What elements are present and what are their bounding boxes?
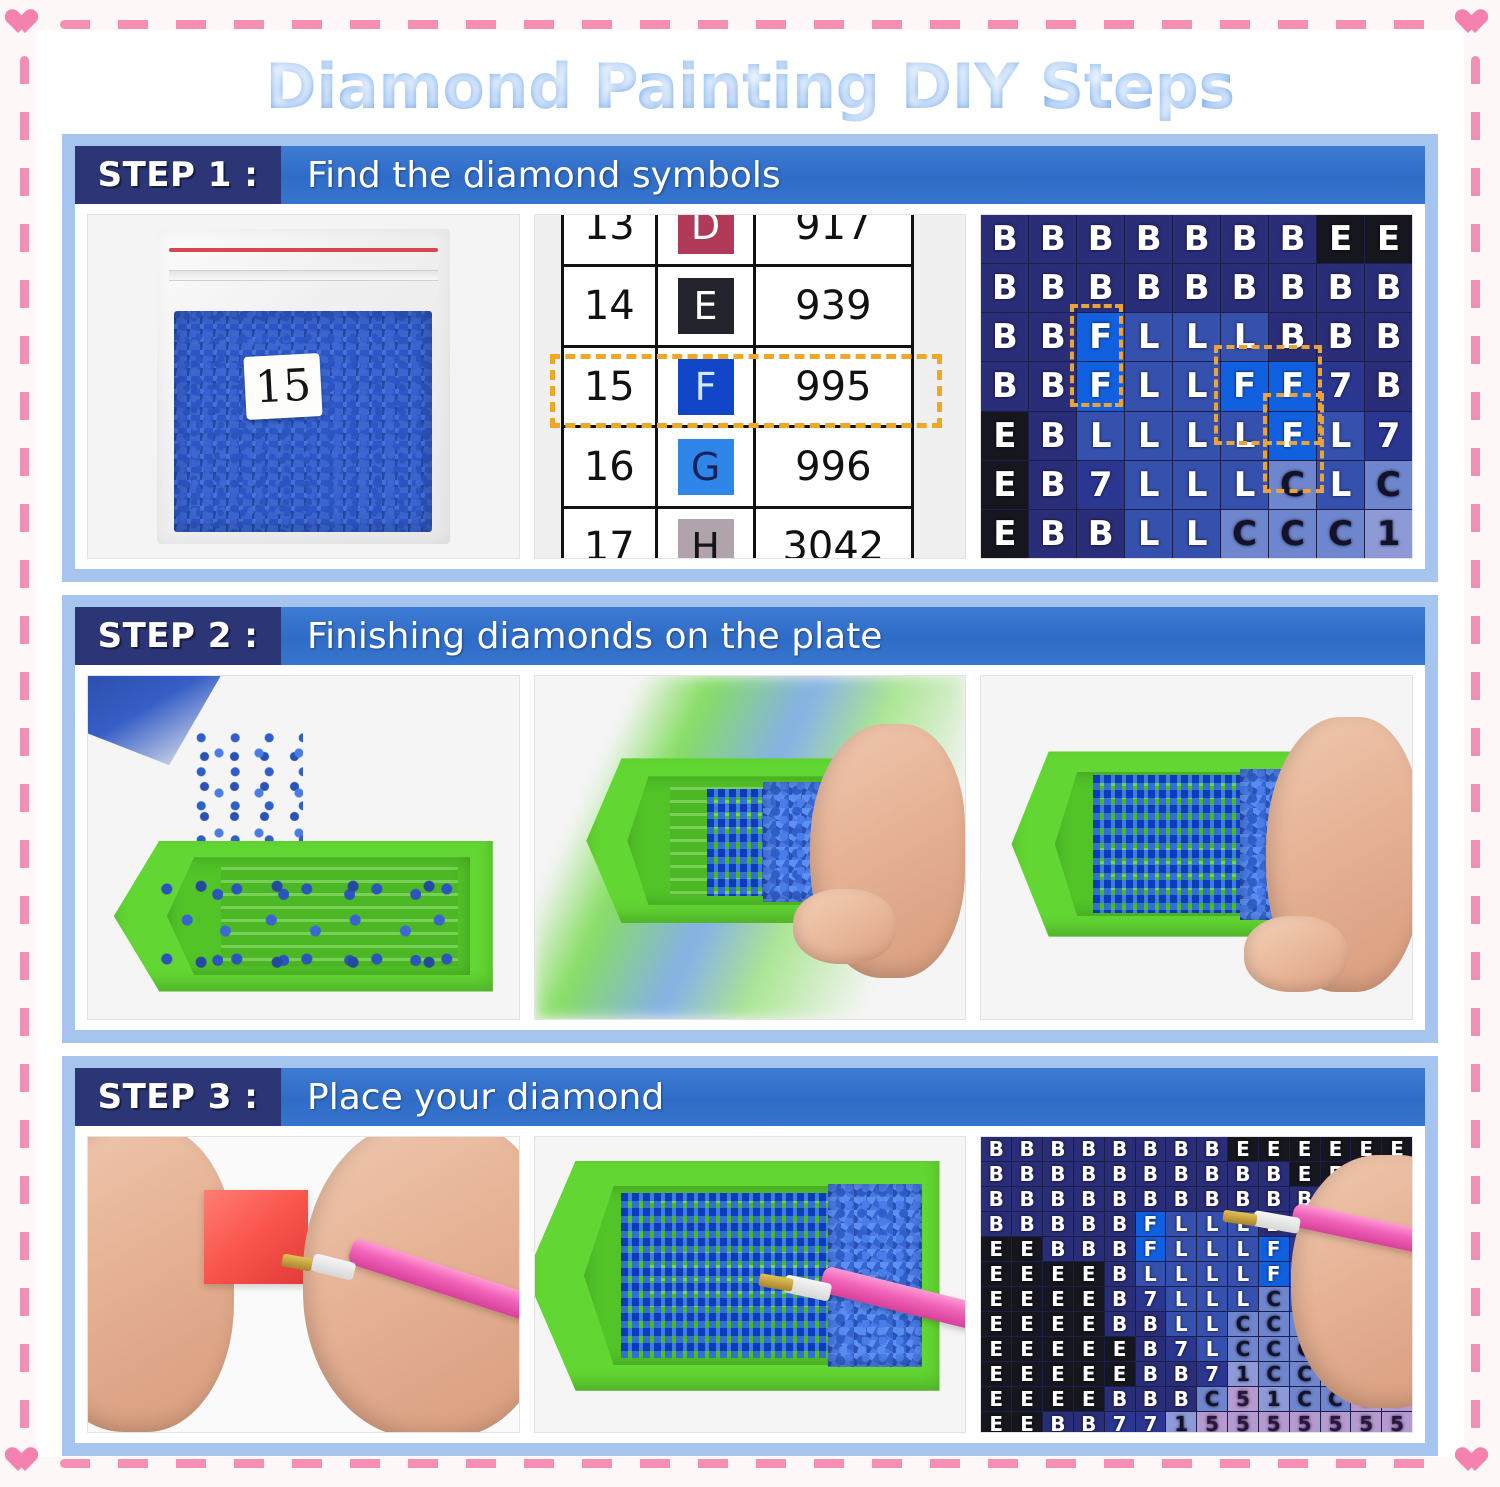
grid-cell: B <box>1043 1412 1073 1433</box>
grid-cell: B <box>1105 1187 1135 1211</box>
grid-cell: B <box>1317 264 1364 312</box>
grid-cell: F <box>1221 362 1268 410</box>
grid-cell: E <box>1321 1137 1351 1161</box>
symbol-chip: D <box>678 214 734 254</box>
step-2-header: STEP 2 : Finishing diamonds on the plate <box>75 607 1425 665</box>
grid-cell: C <box>1259 1287 1289 1311</box>
step-2-title: Finishing diamonds on the plate <box>281 607 1425 665</box>
grid-cell: B <box>1105 1212 1135 1236</box>
grid-cell: E <box>1074 1362 1104 1386</box>
grid-cell: L <box>1173 362 1220 410</box>
page-content: Diamond Painting DIY Steps STEP 1 : Find… <box>48 40 1452 1451</box>
wax-pen-photo <box>87 1136 520 1433</box>
grid-cell: 7 <box>1166 1337 1196 1361</box>
frame-dash-top <box>60 20 1438 29</box>
frame-dash-right <box>1471 56 1480 1431</box>
chart-row: 15F995 <box>562 346 912 426</box>
grid-cell: 7 <box>1317 362 1364 410</box>
frame-dash-left <box>20 56 29 1431</box>
grid-cell: B <box>1105 1312 1135 1336</box>
step-1-header: STEP 1 : Find the diamond symbols <box>75 146 1425 204</box>
grid-cell: L <box>1317 461 1364 509</box>
grid-cell: C <box>1228 1312 1258 1336</box>
grid-cell: E <box>981 1387 1011 1411</box>
grid-cell: B <box>1166 1362 1196 1386</box>
grid-cell: B <box>1105 1162 1135 1186</box>
symbol-chart-table: 13D91714E93915F99516G99617H3042 <box>561 214 914 559</box>
grid-cell: B <box>1259 1187 1289 1211</box>
grid-cell: B <box>1077 510 1124 558</box>
grid-cell: B <box>1043 1212 1073 1236</box>
grid-cell: B <box>1029 264 1076 312</box>
grid-cell: B <box>1043 1162 1073 1186</box>
grid-cell: 7 <box>1136 1412 1166 1433</box>
grid-cell: B <box>1105 1387 1135 1411</box>
grid-cell: B <box>1173 264 1220 312</box>
grid-cell: L <box>1173 461 1220 509</box>
grid-cell: E <box>1290 1162 1320 1186</box>
grid-cell: F <box>1269 362 1316 410</box>
grid-cell: B <box>981 1212 1011 1236</box>
grid-cell: B <box>1136 1387 1166 1411</box>
grid-cell: E <box>1043 1312 1073 1336</box>
grid-cell: E <box>1043 1262 1073 1286</box>
grid-cell: E <box>1074 1387 1104 1411</box>
grid-cell: E <box>1105 1362 1135 1386</box>
grid-cell: L <box>1125 362 1172 410</box>
grid-cell: B <box>1012 1162 1042 1186</box>
grid-cell: 7 <box>1105 1412 1135 1433</box>
grid-cell: B <box>1077 264 1124 312</box>
grid-cell: B <box>1136 1362 1166 1386</box>
grid-cell: E <box>1012 1412 1042 1433</box>
grid-cell: E <box>1012 1312 1042 1336</box>
grid-cell: F <box>1077 313 1124 361</box>
grid-cell: C <box>1221 510 1268 558</box>
grid-cell: B <box>1173 215 1220 263</box>
symbol-chip: E <box>678 278 734 334</box>
grid-cell: B <box>981 1162 1011 1186</box>
grid-cell: L <box>1136 1262 1166 1286</box>
grid-cell: C <box>1259 1362 1289 1386</box>
grid-cell: B <box>1074 1162 1104 1186</box>
grid-cell: B <box>1136 1312 1166 1336</box>
grid-cell: E <box>981 510 1028 558</box>
aligned-diamonds-photo <box>980 675 1413 1020</box>
grid-cell: B <box>1166 1387 1196 1411</box>
step-3-title: Place your diamond <box>281 1068 1425 1126</box>
page-title: Diamond Painting DIY Steps <box>265 50 1235 123</box>
grid-cell: 7 <box>1197 1362 1227 1386</box>
heart-icon <box>1460 1448 1490 1475</box>
grid-cell: B <box>1136 1162 1166 1186</box>
bag-zip-seal <box>169 248 438 252</box>
chart-row-dmc: 996 <box>755 427 913 507</box>
chart-row: 14E939 <box>562 266 912 346</box>
grid-cell: 7 <box>1365 412 1412 460</box>
grid-cell: B <box>1105 1262 1135 1286</box>
grid-cell: E <box>1074 1337 1104 1361</box>
grid-cell: E <box>1012 1387 1042 1411</box>
grid-cell: E <box>1012 1362 1042 1386</box>
grid-cell: C <box>1259 1337 1289 1361</box>
chart-row-index: 15 <box>562 346 657 426</box>
chart-row-dmc: 917 <box>755 214 913 266</box>
grid-cell: B <box>1012 1212 1042 1236</box>
grid-cell: E <box>981 461 1028 509</box>
grid-cell: L <box>1125 313 1172 361</box>
grid-cell: B <box>981 313 1028 361</box>
grid-cell: B <box>1317 313 1364 361</box>
chart-row-symbol: H <box>657 507 755 559</box>
aligned-diamond-rows <box>621 1193 845 1358</box>
grid-cell: 5 <box>1351 1412 1381 1433</box>
step-2-badge: STEP 2 : <box>75 607 281 665</box>
grid-cell: F <box>1259 1262 1289 1286</box>
grid-cell: B <box>1197 1137 1227 1161</box>
grid-cell: F <box>1259 1237 1289 1261</box>
grid-cell: E <box>981 1237 1011 1261</box>
diamond-bag-photo: 15 <box>87 214 520 559</box>
grid-cell: B <box>1029 461 1076 509</box>
chart-row-symbol: F <box>657 346 755 426</box>
grid-cell: B <box>1197 1187 1227 1211</box>
chart-row-index: 17 <box>562 507 657 559</box>
grid-cell: L <box>1197 1237 1227 1261</box>
scattered-diamonds <box>157 868 467 971</box>
chart-row-symbol: D <box>657 214 755 266</box>
zip-bag: 15 <box>157 229 450 545</box>
grid-cell: L <box>1166 1237 1196 1261</box>
grid-cell: E <box>981 1262 1011 1286</box>
grid-cell: B <box>1228 1162 1258 1186</box>
grid-cell: B <box>1029 313 1076 361</box>
grid-cell: E <box>981 1362 1011 1386</box>
chart-row-index: 14 <box>562 266 657 346</box>
grid-cell: B <box>1221 215 1268 263</box>
frame-dash-bottom <box>60 1459 1438 1468</box>
grid-cell: B <box>981 1137 1011 1161</box>
grid-cell: B <box>1136 1187 1166 1211</box>
grid-cell: L <box>1173 313 1220 361</box>
grid-cell: L <box>1077 412 1124 460</box>
grid-cell: E <box>1012 1337 1042 1361</box>
grid-cell: B <box>1029 510 1076 558</box>
pour-diamonds-photo <box>87 675 520 1020</box>
grid-cell: B <box>1166 1162 1196 1186</box>
step-panel-1: STEP 1 : Find the diamond symbols 15 13D… <box>62 134 1438 582</box>
grid-cell: E <box>1074 1287 1104 1311</box>
grid-cell: E <box>1074 1262 1104 1286</box>
chart-row: 16G996 <box>562 427 912 507</box>
grid-cell: E <box>1317 215 1364 263</box>
grid-cell: C <box>1228 1337 1258 1361</box>
grid-cell: F <box>1077 362 1124 410</box>
grid-cell: B <box>1074 1212 1104 1236</box>
grid-cell: L <box>1173 412 1220 460</box>
grid-cell: E <box>1365 215 1412 263</box>
step-3-header: STEP 3 : Place your diamond <box>75 1068 1425 1126</box>
grid-cell: F <box>1136 1212 1166 1236</box>
grid-cell: E <box>1012 1237 1042 1261</box>
grid-cell: 5 <box>1197 1412 1227 1433</box>
grid-cell: 1 <box>1365 510 1412 558</box>
step-1-photos: 15 13D91714E93915F99516G99617H3042 BBBBB… <box>75 204 1425 569</box>
grid-cell: E <box>1043 1337 1073 1361</box>
grid-cell: E <box>981 1337 1011 1361</box>
grid-cell: B <box>1074 1237 1104 1261</box>
chart-row-index: 13 <box>562 214 657 266</box>
grid-cell: E <box>981 1287 1011 1311</box>
bag-number-label: 15 <box>243 353 322 420</box>
chart-row-index: 16 <box>562 427 657 507</box>
grid-cell: 1 <box>1228 1362 1258 1386</box>
grid-cell: E <box>981 412 1028 460</box>
grid-cell: 1 <box>1259 1387 1289 1411</box>
grid-cell: E <box>981 1312 1011 1336</box>
grid-cell: L <box>1197 1262 1227 1286</box>
chart-row-dmc: 995 <box>755 346 913 426</box>
grid-cell: L <box>1221 313 1268 361</box>
grid-cell: 5 <box>1228 1387 1258 1411</box>
grid-cell: L <box>1228 1262 1258 1286</box>
step-1-badge: STEP 1 : <box>75 146 281 204</box>
grid-cell: B <box>1166 1187 1196 1211</box>
grid-cell: B <box>1269 313 1316 361</box>
step-3-photos: BBBBBBBBEEEEEEBBBBBBBBBBEEBEBBBBBBBBBBBB… <box>75 1126 1425 1443</box>
grid-cell: B <box>1074 1412 1104 1433</box>
grid-cell: B <box>1029 412 1076 460</box>
grid-cell: C <box>1317 510 1364 558</box>
grid-cell: B <box>1029 362 1076 410</box>
grid-cell: 5 <box>1321 1412 1351 1433</box>
finger <box>793 889 896 964</box>
shake-tray-photo <box>534 675 967 1020</box>
grid-cell: B <box>1125 264 1172 312</box>
grid-cell: L <box>1166 1212 1196 1236</box>
grid-cell: B <box>1012 1137 1042 1161</box>
grid-cell: 5 <box>1382 1412 1412 1433</box>
grid-cell: L <box>1228 1237 1258 1261</box>
grid-cell: F <box>1269 412 1316 460</box>
grid-cell: C <box>1259 1312 1289 1336</box>
grid-cell: L <box>1166 1287 1196 1311</box>
symbol-grid-small: BBBBBBBEEBBBBBBBBBBBFLLLBBBBBFLLFF7BEBLL… <box>981 215 1412 558</box>
grid-cell: C <box>1365 461 1412 509</box>
chart-row-dmc: 3042 <box>755 507 913 559</box>
step-panel-3: STEP 3 : Place your diamond <box>62 1056 1438 1456</box>
grid-cell: E <box>1259 1137 1289 1161</box>
grid-cell: B <box>1105 1287 1135 1311</box>
grid-cell: B <box>1074 1137 1104 1161</box>
grid-cell: 5 <box>1228 1412 1258 1433</box>
grid-cell: L <box>1221 412 1268 460</box>
grid-cell: B <box>1228 1187 1258 1211</box>
grid-cell: L <box>1125 461 1172 509</box>
grid-cell: B <box>981 1187 1011 1211</box>
grid-cell: L <box>1166 1312 1196 1336</box>
step-1-title: Find the diamond symbols <box>281 146 1425 204</box>
heart-icon <box>10 10 40 37</box>
page-title-bar: Diamond Painting DIY Steps <box>48 40 1452 132</box>
finger <box>1244 916 1347 991</box>
chart-row: 17H3042 <box>562 507 912 559</box>
grid-cell: B <box>1365 264 1412 312</box>
chart-row-dmc: 939 <box>755 266 913 346</box>
grid-cell: E <box>981 1412 1011 1433</box>
grid-cell: E <box>1043 1287 1073 1311</box>
grid-cell: E <box>1012 1287 1042 1311</box>
grid-cell: E <box>1012 1262 1042 1286</box>
aligned-diamond-rows <box>1093 775 1257 912</box>
grid-cell: C <box>1269 510 1316 558</box>
grid-cell: B <box>1269 264 1316 312</box>
grid-cell: L <box>1228 1287 1258 1311</box>
bag-zip-strip <box>169 270 438 281</box>
step-2-photos <box>75 665 1425 1030</box>
chart-row-symbol: G <box>657 427 755 507</box>
grid-cell: B <box>981 264 1028 312</box>
grid-cell: B <box>1365 313 1412 361</box>
grid-cell: B <box>1077 215 1124 263</box>
grid-cell: C <box>1290 1387 1320 1411</box>
grid-cell: E <box>1105 1337 1135 1361</box>
step-panel-2: STEP 2 : Finishing diamonds on the plate <box>62 595 1438 1043</box>
grid-cell: 5 <box>1290 1412 1320 1433</box>
grid-cell: L <box>1173 510 1220 558</box>
grid-cell: 7 <box>1077 461 1124 509</box>
grid-cell: 7 <box>1136 1287 1166 1311</box>
grid-cell: B <box>981 362 1028 410</box>
grid-cell: L <box>1125 510 1172 558</box>
grid-cell: B <box>1043 1187 1073 1211</box>
grid-cell: F <box>1136 1237 1166 1261</box>
grid-cell: B <box>1197 1162 1227 1186</box>
heart-icon <box>1460 10 1490 37</box>
grid-cell: L <box>1166 1262 1196 1286</box>
grid-cell: B <box>1221 264 1268 312</box>
grid-cell: C <box>1269 461 1316 509</box>
grid-cell: 1 <box>1166 1412 1196 1433</box>
grid-cell: L <box>1197 1312 1227 1336</box>
chart-row-symbol: E <box>657 266 755 346</box>
grid-cell: B <box>1259 1162 1289 1186</box>
symbol-grid-photo: BBBBBBBEEBBBBBBBBBBBFLLLBBBBBFLLFF7BEBLL… <box>980 214 1413 559</box>
grid-cell: L <box>1317 412 1364 460</box>
grid-cell: L <box>1197 1287 1227 1311</box>
grid-cell: L <box>1197 1337 1227 1361</box>
place-on-canvas-photo: BBBBBBBBEEEEEEBBBBBBBBBBEEBEBBBBBBBBBBBB… <box>980 1136 1413 1433</box>
grid-cell: L <box>1221 461 1268 509</box>
grid-cell: B <box>1012 1187 1042 1211</box>
symbol-chip: F <box>678 359 734 415</box>
grid-cell: B <box>1043 1237 1073 1261</box>
step-3-badge: STEP 3 : <box>75 1068 281 1126</box>
blue-diamond-beads <box>174 311 432 532</box>
pink-wax-square <box>204 1190 307 1284</box>
grid-cell: B <box>1105 1237 1135 1261</box>
grid-cell: E <box>1074 1312 1104 1336</box>
grid-cell: C <box>1197 1387 1227 1411</box>
grid-cell: L <box>1125 412 1172 460</box>
grid-cell: E <box>1043 1387 1073 1411</box>
heart-icon <box>10 1448 40 1475</box>
symbol-chip: H <box>678 519 734 559</box>
symbol-chip: G <box>678 439 734 495</box>
grid-cell: B <box>1029 215 1076 263</box>
grid-cell: B <box>1105 1137 1135 1161</box>
pick-diamond-photo <box>534 1136 967 1433</box>
grid-cell: B <box>1136 1337 1166 1361</box>
grid-cell: B <box>1074 1187 1104 1211</box>
grid-cell: B <box>1043 1137 1073 1161</box>
grid-cell: 5 <box>1259 1412 1289 1433</box>
grid-cell: B <box>1365 362 1412 410</box>
grid-cell: B <box>1269 215 1316 263</box>
grid-cell: E <box>1290 1137 1320 1161</box>
chart-row: 13D917 <box>562 214 912 266</box>
symbol-chart-photo: 13D91714E93915F99516G99617H3042 <box>534 214 967 559</box>
grid-cell: B <box>981 215 1028 263</box>
grid-cell: E <box>1228 1137 1258 1161</box>
grid-cell: B <box>1166 1137 1196 1161</box>
grid-cell: B <box>1125 215 1172 263</box>
grid-cell: E <box>1043 1362 1073 1386</box>
grid-cell: B <box>1136 1137 1166 1161</box>
